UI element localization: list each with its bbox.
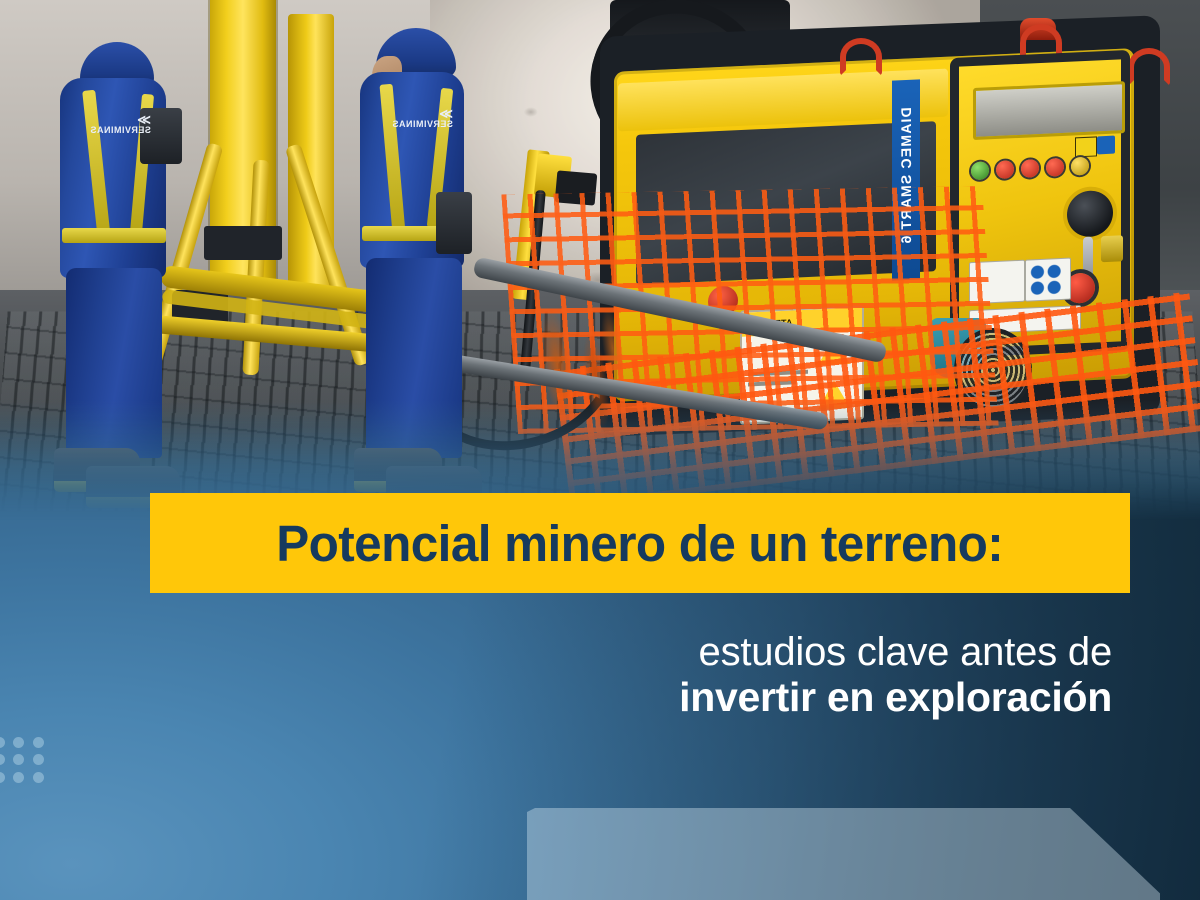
safety-harness-belt <box>62 228 166 243</box>
control-button <box>1071 157 1089 176</box>
poster-canvas: DIAMEC SMART 6 <box>0 0 1200 900</box>
grid-dot <box>13 754 24 765</box>
grid-dot <box>13 737 24 748</box>
control-display <box>973 81 1125 140</box>
subtitle-block: estudios clave antes de invertir en expl… <box>472 630 1112 721</box>
lifting-eye-icon <box>1128 48 1170 86</box>
control-selector-knob <box>1067 190 1113 238</box>
uniform-logo-mark: ≫ <box>90 114 151 125</box>
control-button-row <box>971 155 1121 184</box>
uniform-logo-text: SERVIMINAS <box>90 125 151 135</box>
grid-dot <box>0 737 5 748</box>
grid-dot <box>0 772 5 783</box>
bottom-accent-shape <box>527 808 1160 900</box>
subtitle-line-1: estudios clave antes de <box>472 630 1112 675</box>
control-button <box>1046 158 1064 177</box>
worker-equipment-pack <box>436 192 472 254</box>
hero-photo: DIAMEC SMART 6 <box>0 0 1200 520</box>
rig-block <box>204 226 282 260</box>
control-button <box>1021 159 1039 178</box>
uniform-logo-mark: ≫ <box>392 108 453 119</box>
subtitle-line-2: invertir en exploración <box>472 675 1112 721</box>
grid-dot <box>0 754 5 765</box>
control-button <box>996 160 1014 179</box>
title-banner: Potencial minero de un terreno: <box>150 493 1130 593</box>
padlock-icon <box>1101 235 1123 262</box>
hero-photo-image: DIAMEC SMART 6 <box>0 0 1200 520</box>
grid-dot <box>13 772 24 783</box>
grid-dot <box>33 754 44 765</box>
info-label-icon <box>1097 136 1115 155</box>
warning-triangle-icon <box>1075 136 1097 157</box>
control-button <box>971 161 989 180</box>
ppe-sticker <box>1025 258 1071 302</box>
uniform-logo: ≫ SERVIMINAS <box>90 114 151 135</box>
lifting-eye-icon <box>840 38 882 76</box>
page-title: Potencial minero de un terreno: <box>277 518 1004 569</box>
uniform-logo-text: SERVIMINAS <box>392 119 453 129</box>
dot-grid-pattern <box>0 737 52 789</box>
grid-dot <box>33 737 44 748</box>
grid-dot <box>33 772 44 783</box>
uniform-logo: ≫ SERVIMINAS <box>392 108 453 129</box>
